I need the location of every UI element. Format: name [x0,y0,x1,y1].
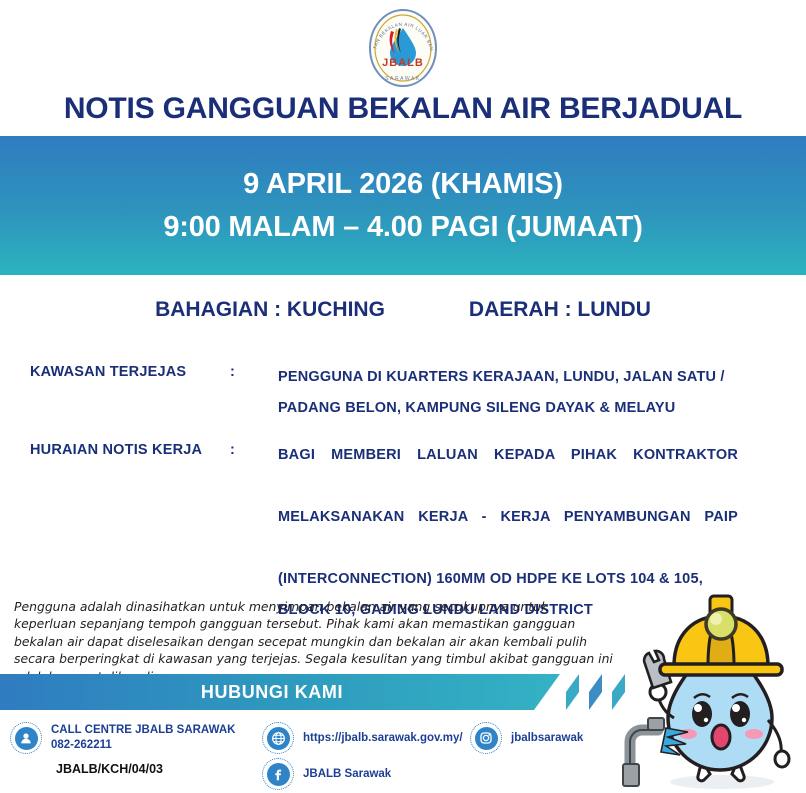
person-icon [10,722,42,754]
contact-facebook[interactable]: JBALB Sarawak [262,758,391,790]
reference-number: JBALB/KCH/04/03 [56,762,163,776]
affected-area-row: KAWASAN TERJEJAS : PENGGUNA DI KUARTERS … [30,362,790,424]
water-droplet-mascot-icon [622,592,806,793]
affected-area-line: PADANG BELON, KAMPUNG SILENG DAYAK & MEL… [278,393,738,424]
work-description-line: BAGI MEMBERI LALUAN KEPADA PIHAK KONTRAK… [278,440,738,502]
contact-instagram[interactable]: jbalbsarawak [470,722,583,754]
bahagian-label: BAHAGIAN : KUCHING [155,298,385,322]
contact-banner-title: HUBUNGI KAMI [201,682,359,703]
call-centre-line2: 082-262211 [51,738,235,753]
contact-call-centre-text: CALL CENTRE JBALB SARAWAK 082-262211 [51,723,235,753]
advisory-text: Pengguna adalah dinasihatkan untuk menyi… [14,598,614,685]
contact-call-centre[interactable]: CALL CENTRE JBALB SARAWAK 082-262211 [10,722,235,754]
instagram-handle[interactable]: jbalbsarawak [511,731,583,746]
division-row: BAHAGIAN : KUCHING DAERAH : LUNDU [0,298,806,322]
jbalb-logo-icon: JBALB SARAWAK JABATAN BEKALAN AIR LUAR B… [364,8,442,88]
globe-icon [262,722,294,754]
affected-area-line: PENGGUNA DI KUARTERS KERAJAAN, LUNDU, JA… [278,362,738,393]
date-line-1: 9 APRIL 2026 (KHAMIS) [243,163,563,206]
affected-area-colon: : [230,362,278,424]
contact-banner-bar: HUBUNGI KAMI [0,674,560,710]
facebook-page[interactable]: JBALB Sarawak [303,767,391,782]
notice-page: JBALB SARAWAK JABATAN BEKALAN AIR LUAR B… [0,0,806,793]
affected-area-label: KAWASAN TERJEJAS [30,362,230,424]
date-line-2: 9:00 MALAM – 4.00 PAGI (JUMAAT) [163,206,642,249]
website-url[interactable]: https://jbalb.sarawak.gov.my/ [303,731,463,746]
page-title: NOTIS GANGGUAN BEKALAN AIR BERJADUAL [0,92,806,126]
daerah-label: DAERAH : LUNDU [469,298,651,322]
svg-text:SARAWAK: SARAWAK [385,76,421,82]
instagram-icon [470,722,502,754]
work-description-line: (INTERCONNECTION) 160MM OD HDPE KE LOTS … [278,564,738,595]
work-description-line: MELAKSANAKAN KERJA - KERJA PENYAMBUNGAN … [278,502,738,564]
date-banner: 9 APRIL 2026 (KHAMIS) 9:00 MALAM – 4.00 … [0,136,806,275]
affected-area-value: PENGGUNA DI KUARTERS KERAJAAN, LUNDU, JA… [278,362,738,424]
banner-stripe-2 [589,674,602,710]
banner-stripe-1 [566,674,579,710]
logo-container: JBALB SARAWAK JABATAN BEKALAN AIR LUAR B… [0,6,806,90]
call-centre-line1: CALL CENTRE JBALB SARAWAK [51,723,235,738]
facebook-icon [262,758,294,790]
svg-text:JBALB: JBALB [382,57,424,69]
contact-website[interactable]: https://jbalb.sarawak.gov.my/ [262,722,463,754]
